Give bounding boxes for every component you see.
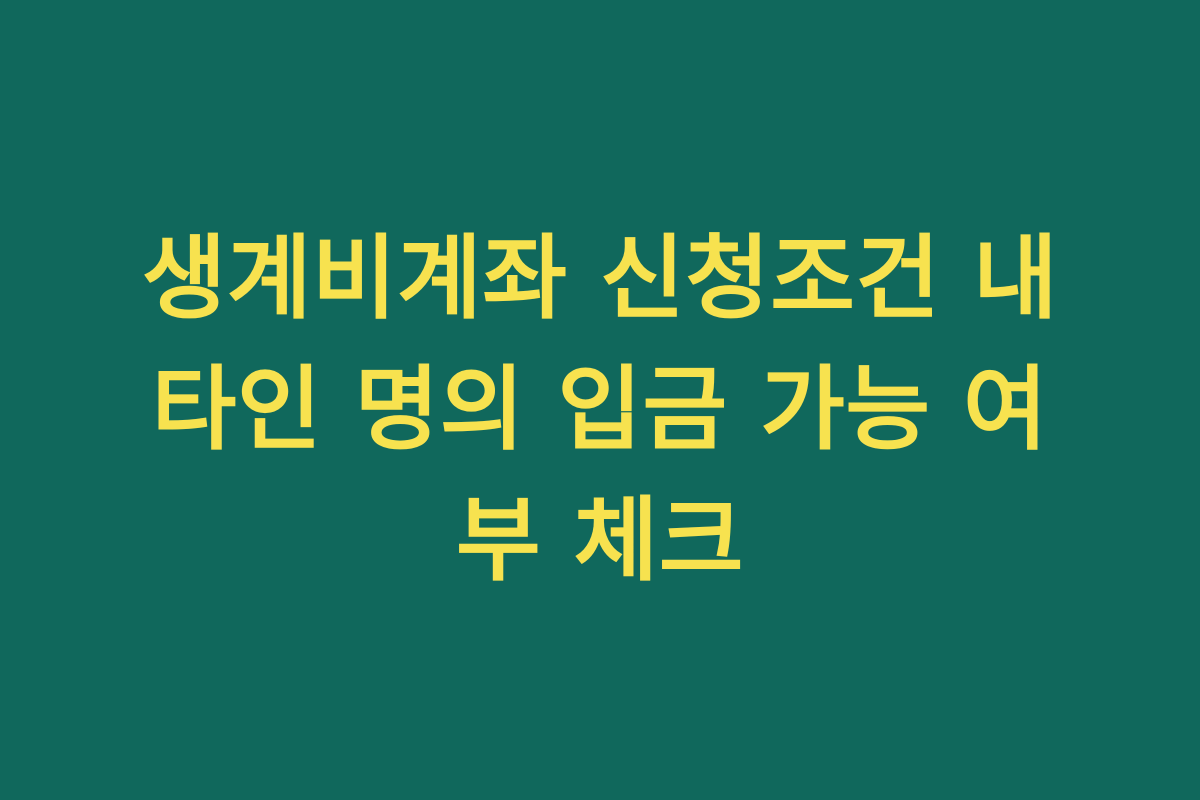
poster-canvas: 생계비계좌 신청조건 내 타인 명의 입금 가능 여 부 체크 — [0, 0, 1200, 800]
title-line-1: 생계비계좌 신청조건 내 — [142, 213, 1058, 344]
title-line-3: 부 체크 — [456, 475, 744, 606]
page-title: 생계비계좌 신청조건 내 타인 명의 입금 가능 여 부 체크 — [80, 213, 1120, 606]
title-line-2: 타인 명의 입금 가능 여 — [152, 344, 1048, 475]
